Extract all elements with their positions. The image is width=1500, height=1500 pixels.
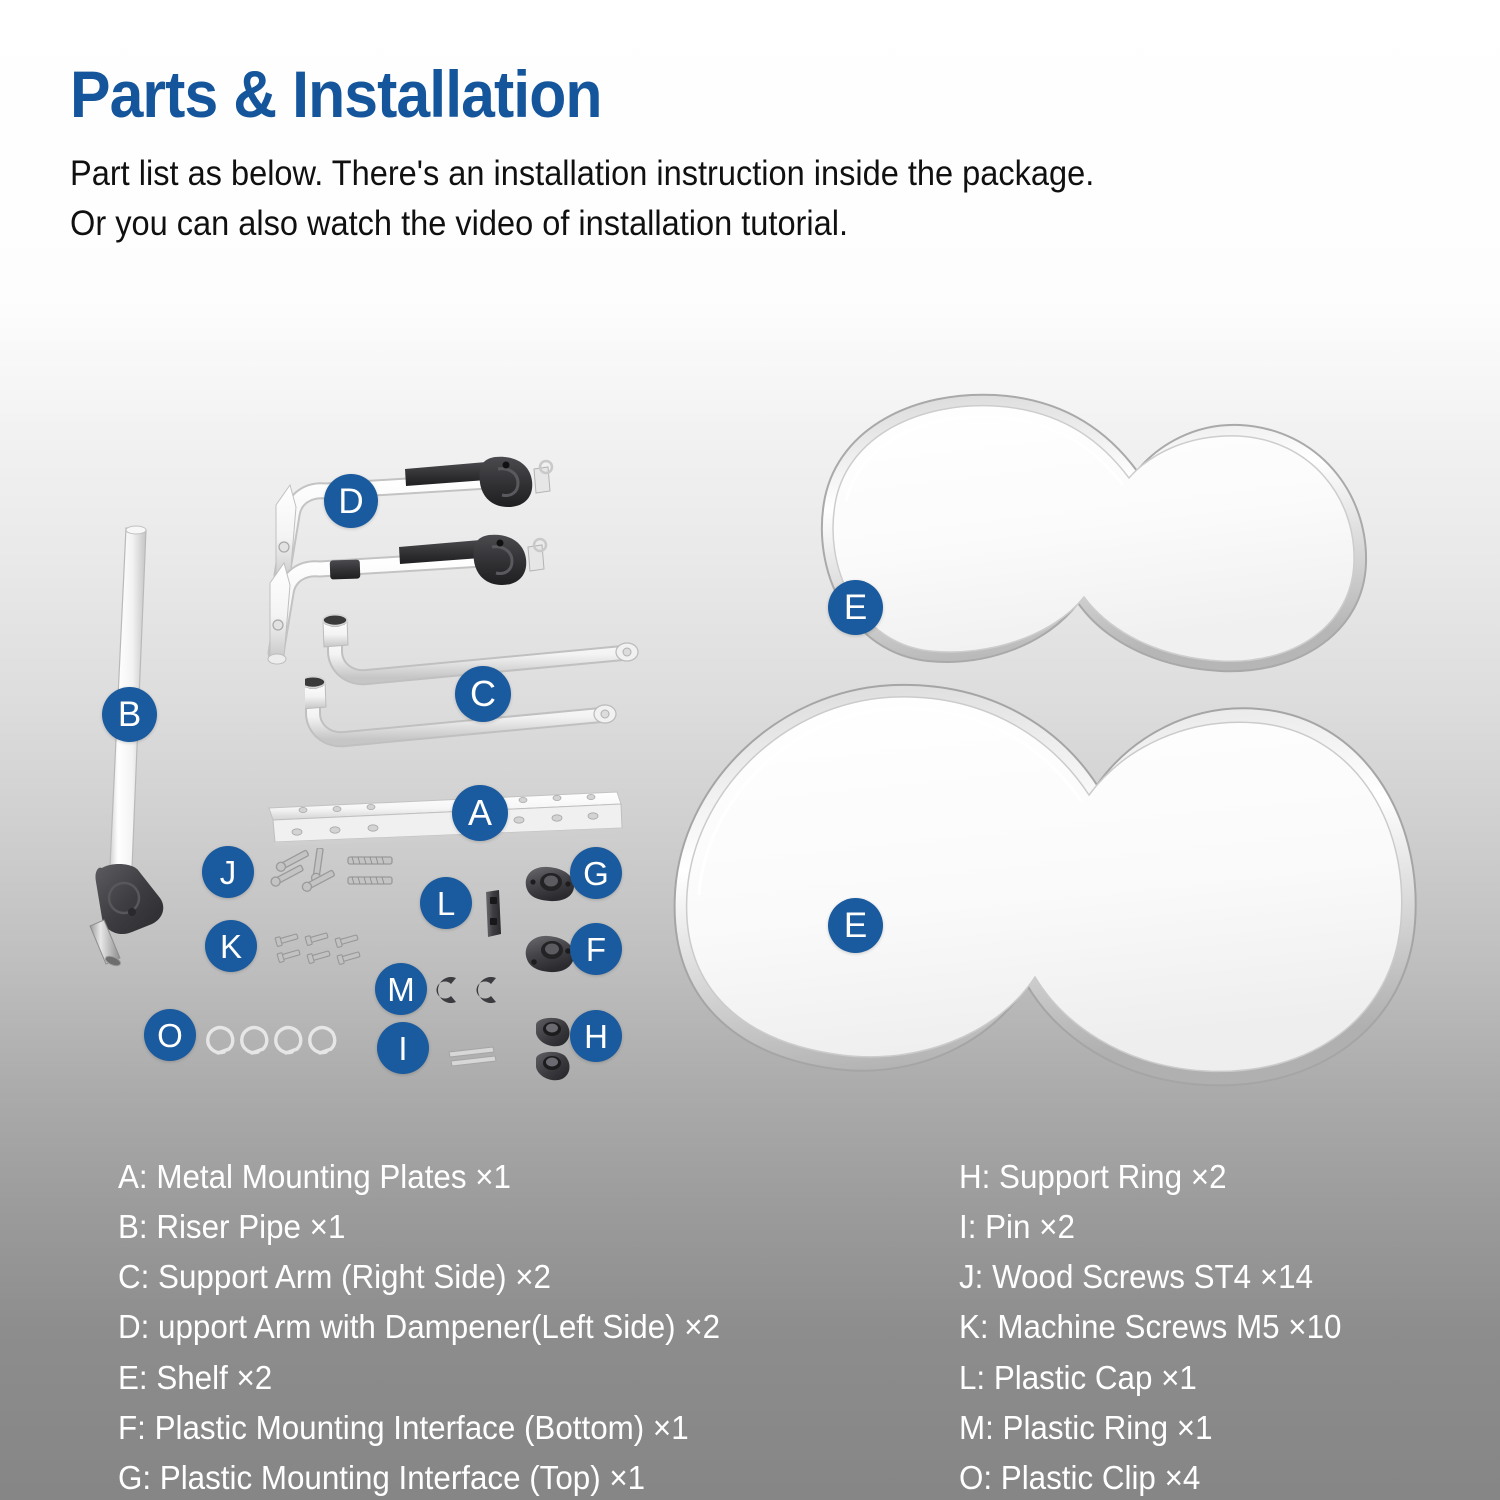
subtitle-line-1: Part list as below. There's an installat… (70, 149, 1353, 199)
callout-badge-o-12: O (144, 1009, 196, 1061)
callout-badge-b-1: B (102, 687, 157, 742)
part-list-column-right: H: Support Ring ×2I: Pin ×2J: Wood Screw… (959, 1152, 1395, 1500)
callout-badge-j-6: J (202, 846, 254, 898)
metal-mounting-plate-illustration (265, 788, 625, 850)
subtitle-line-2: Or you can also watch the video of insta… (70, 199, 1353, 249)
part-list-item-5: F: Plastic Mounting Interface (Bottom) ×… (118, 1403, 851, 1453)
part-list-item-2: J: Wood Screws ST4 ×14 (959, 1252, 1395, 1302)
plastic-ring-illustration (430, 970, 510, 1010)
part-list-item-1: B: Riser Pipe ×1 (118, 1202, 851, 1252)
part-list-column-left: A: Metal Mounting Plates ×1B: Riser Pipe… (118, 1152, 851, 1500)
callout-badge-a-3: A (452, 785, 508, 841)
part-list-item-1: I: Pin ×2 (959, 1202, 1395, 1252)
callout-badge-e-4: E (828, 580, 883, 635)
support-ring-illustration (528, 1015, 578, 1085)
machine-screws-illustration (272, 930, 387, 972)
callout-badge-m-11: M (375, 963, 427, 1015)
callout-badge-e-5: E (828, 898, 883, 953)
plastic-cap-illustration (478, 888, 508, 940)
part-list-item-6: G: Plastic Mounting Interface (Top) ×1 (118, 1453, 851, 1500)
part-list-item-0: H: Support Ring ×2 (959, 1152, 1395, 1202)
plastic-clip-illustration (198, 1022, 343, 1064)
callout-badge-c-2: C (455, 666, 511, 722)
callout-badge-f-10: F (570, 923, 622, 975)
part-list-item-3: D: upport Arm with Dampener(Left Side) ×… (118, 1302, 851, 1352)
callout-badge-i-13: I (377, 1022, 429, 1074)
header: Parts & Installation Part list as below.… (70, 60, 1450, 249)
callout-badge-k-9: K (205, 920, 257, 972)
part-list-item-6: O: Plastic Clip ×4 (959, 1453, 1395, 1500)
callout-badge-g-7: G (570, 847, 622, 899)
shelf-upper-illustration (650, 375, 1450, 695)
shelf-lower-illustration (645, 655, 1445, 1115)
riser-pipe-illustration (80, 520, 250, 980)
wood-screws-illustration (270, 848, 405, 900)
part-list: A: Metal Mounting Plates ×1B: Riser Pipe… (118, 1152, 1418, 1500)
part-list-item-4: L: Plastic Cap ×1 (959, 1353, 1395, 1403)
part-list-item-2: C: Support Arm (Right Side) ×2 (118, 1252, 851, 1302)
part-list-item-3: K: Machine Screws M5 ×10 (959, 1302, 1395, 1352)
callout-badge-l-8: L (420, 877, 472, 929)
part-list-item-4: E: Shelf ×2 (118, 1353, 851, 1403)
part-list-item-0: A: Metal Mounting Plates ×1 (118, 1152, 851, 1202)
page-subtitle: Part list as below. There's an installat… (70, 149, 1353, 248)
part-list-item-5: M: Plastic Ring ×1 (959, 1403, 1395, 1453)
callout-badge-d-0: D (324, 474, 378, 528)
parts-installation-page: Parts & Installation Part list as below.… (0, 0, 1500, 1500)
pin-illustration (443, 1040, 503, 1072)
callout-badge-h-14: H (570, 1010, 622, 1062)
page-title: Parts & Installation (70, 60, 1340, 129)
